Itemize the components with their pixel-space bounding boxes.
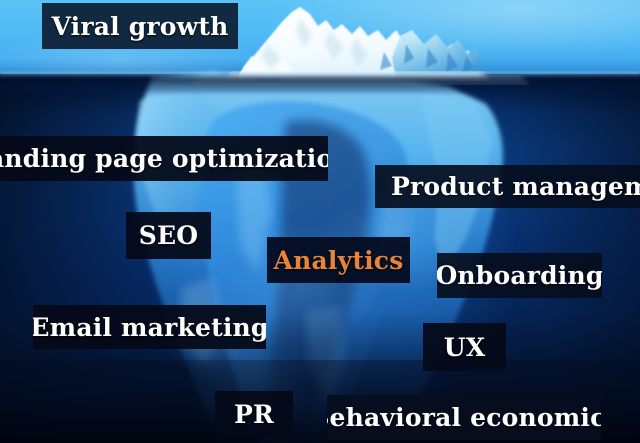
iceberg-scene: Viral growth Landing page optimization P… xyxy=(0,0,640,443)
label-landing-page-optimization[interactable]: Landing page optimization xyxy=(0,136,328,181)
label-pr[interactable]: PR xyxy=(215,391,293,438)
label-ux[interactable]: UX xyxy=(423,323,506,371)
label-analytics[interactable]: Analytics xyxy=(267,237,410,283)
waterline-shadow-band xyxy=(0,77,640,93)
label-onboarding[interactable]: Onboarding xyxy=(437,253,602,298)
label-product-management[interactable]: Product management xyxy=(375,165,640,208)
label-email-marketing[interactable]: Email marketing xyxy=(33,305,266,349)
label-seo[interactable]: SEO xyxy=(126,212,211,259)
label-viral-growth[interactable]: Viral growth xyxy=(42,3,238,49)
label-behavioral-economics[interactable]: Behavioral economics xyxy=(327,395,601,440)
